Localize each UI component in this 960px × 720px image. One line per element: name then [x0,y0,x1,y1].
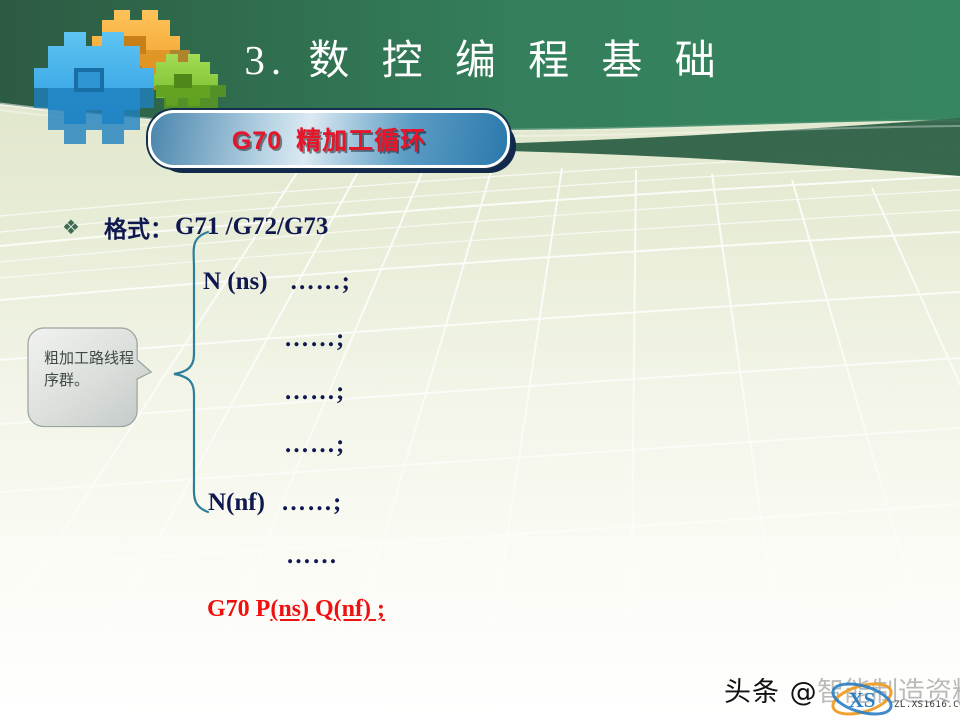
svg-text:XS: XS [849,688,876,712]
format-label: 格式： [104,210,173,244]
code-line-dots-1: ……; [284,325,345,353]
watermark-headline: 头条 @ [724,670,818,709]
code-line-n-ns: N (ns)……; [203,268,351,296]
watermark-url: ZL.XS1616.COM [894,700,960,710]
code-line-dots: ……; [284,378,345,405]
g70-q-prefix: Q [315,596,334,622]
code-line-dots-4: …… [286,542,338,570]
g70-p-argument: (ns) [270,596,309,622]
code-line-n-nf: N(nf)……; [208,489,342,517]
diamond-bullet-icon: ❖ [62,215,80,239]
g70-prefix: G70 P [207,596,270,622]
g70-q-argument: (nf) ; [334,596,385,622]
code-line-dots: ……; [284,431,345,458]
section-banner-body[interactable]: G70精加工循环 [148,110,510,168]
xs-logo-icon: XS [828,682,902,716]
callout-text: 粗加工路线程序群。 [44,347,136,391]
grouping-brace [168,228,222,518]
slide-canvas: 3. 数 控 编 程 基 础 G70精加工循环 [0,0,960,720]
page-title-text: 数 控 编 程 基 础 [308,37,726,83]
section-banner-text: G70精加工循环 [232,121,426,157]
callout-bubble: 粗加工路线程序群。 [28,328,152,436]
code-line-dots: ……; [281,489,342,516]
code-line-dots-2: ……; [284,378,345,406]
banner-code: G70 [232,127,282,155]
code-line-dots: ……; [284,325,345,352]
code-line-dots: …… [286,542,338,569]
banner-label: 精加工循环 [296,126,426,155]
watermark: 头条 @ 智能制造资料网 XS ZL.XS1616.COM [724,664,960,716]
page-title-number: 3. [244,37,287,83]
page-title: 3. 数 控 编 程 基 础 [0,26,960,86]
code-line-dots: ……; [290,268,351,295]
code-line-dots-3: ……; [284,431,345,459]
section-banner[interactable]: G70精加工循环 [148,110,508,166]
g70-command-line: G70 P(ns) Q(nf) ; [207,596,385,623]
